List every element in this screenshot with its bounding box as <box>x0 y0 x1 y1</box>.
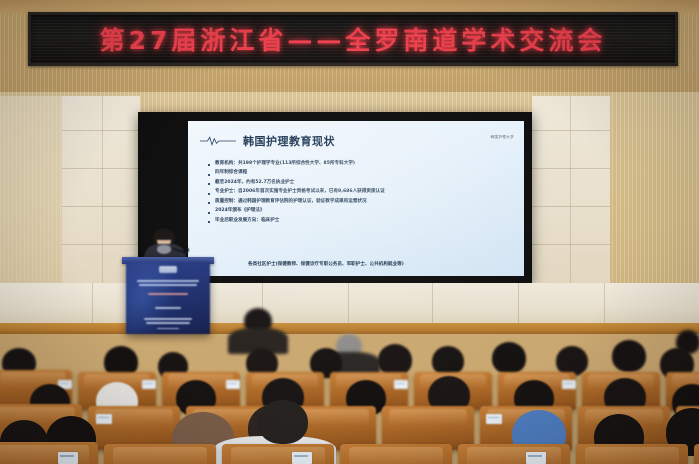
chair-seatback <box>458 444 570 464</box>
seat-number-tag <box>292 452 312 464</box>
bullet-dot <box>208 212 210 214</box>
bullet-text: 毕业后职业发展方向：临床护士 <box>215 218 279 223</box>
chair-seatback <box>222 444 334 464</box>
slide-footer-note: 各类社区护士(保健教师、保健诊疗专职公务员、军职护士、公共机构就业等) <box>248 261 404 267</box>
bullet-dot <box>208 174 210 176</box>
bullet-dot <box>208 202 210 204</box>
seat-number-tag <box>142 380 156 389</box>
slide-logo: 韩国护理大学 <box>491 135 514 140</box>
slide-header: 韩国护理教育现状 <box>200 133 335 149</box>
presentation-slide: 韩国护理教育现状 韩国护理大学 教育机构：共198个护理学专业(113所综合性大… <box>188 121 524 276</box>
bullet-text: 截至2024年，约有52.7万名执业护士 <box>215 180 294 185</box>
stone-panel-far-left <box>0 96 62 286</box>
microphone-icon <box>185 248 189 252</box>
conference-hall-photo: 第27届浙江省——全罗南道学术交流会 韩国护理教育现状 韩国护理大学 教育机构：… <box>0 0 699 464</box>
chair-seatback <box>104 444 216 464</box>
list-item: 毕业后职业发展方向：临床护士 <box>208 218 512 223</box>
bullet-dot <box>208 221 210 223</box>
seat-number-tag <box>486 414 502 424</box>
list-item: 四年制综合课程 <box>208 170 512 175</box>
banner-title: 第27届浙江省——全罗南道学术交流会 <box>100 21 607 57</box>
bullet-text: 专业护士：自2006年首次实施专业护士资格考试以来，已有9,686人获得资质认证 <box>215 189 385 194</box>
bullet-dot <box>208 183 210 185</box>
seat-number-tag <box>526 452 546 464</box>
led-banner: 第27届浙江省——全罗南道学术交流会 <box>28 12 678 66</box>
attendee-head <box>258 400 308 444</box>
seat-number-tag <box>226 380 240 389</box>
bullet-text: 质量控制：通过韩国护理教育评估院的护理认证，验证教学成果和运营状况 <box>215 199 367 204</box>
slide-bullet-list: 教育机构：共198个护理学专业(113所综合性大学、85所专科大学) 四年制综合… <box>208 161 512 227</box>
attendee-head <box>492 342 526 374</box>
attendee-head <box>612 340 646 372</box>
seat-number-tag <box>562 380 576 389</box>
stone-panel-right <box>532 96 610 286</box>
list-item: 质量控制：通过韩国护理教育评估院的护理认证，验证教学成果和运营状况 <box>208 199 512 204</box>
chair-seatback <box>576 444 688 464</box>
chair-seatback <box>340 444 452 464</box>
chair-seatback <box>694 444 699 464</box>
bullet-dot <box>208 164 210 166</box>
ecg-heartbeat-icon <box>200 134 236 148</box>
chair-seatback <box>0 442 98 464</box>
lectern-emblem <box>159 266 177 273</box>
bullet-text: 2024年颁布《护理法》 <box>215 208 265 213</box>
list-item: 截至2024年，约有52.7万名执业护士 <box>208 180 512 185</box>
bullet-text: 教育机构：共198个护理学专业(113所综合性大学、85所专科大学) <box>215 161 355 166</box>
seat-number-tag <box>58 452 78 464</box>
seat-number-tag <box>96 414 112 424</box>
seat-number-tag <box>394 380 408 389</box>
list-item: 专业护士：自2006年首次实施专业护士资格考试以来，已有9,686人获得资质认证 <box>208 189 512 194</box>
list-item: 教育机构：共198个护理学专业(113所综合性大学、85所专科大学) <box>208 161 512 166</box>
audience-seating <box>0 300 699 464</box>
bullet-dot <box>208 193 210 195</box>
list-item: 2024年颁布《护理法》 <box>208 208 512 213</box>
bullet-text: 四年制综合课程 <box>215 170 247 175</box>
slide-title: 韩国护理教育现状 <box>243 133 335 149</box>
